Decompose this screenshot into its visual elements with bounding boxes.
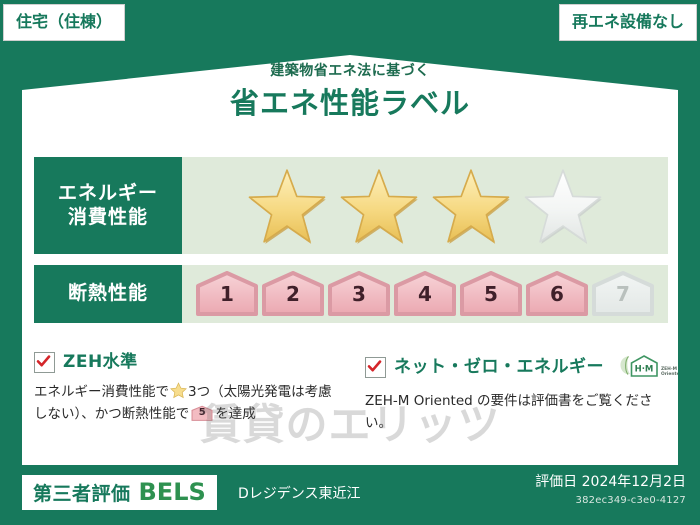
- zeh-m-logo: H·M ZEH-M Oriented: [616, 352, 678, 382]
- zeh-m-mark-text: H·M: [635, 365, 654, 375]
- insulation-performance-label-line1: 断熱性能: [68, 282, 148, 306]
- star-filled-icon: [337, 166, 421, 246]
- note-zeh-body: エネルギー消費性能で3つ（太陽光発電は考慮しない）、かつ断熱性能で5を達成: [34, 382, 339, 425]
- footer-bar: 第三者評価 BELS Dレジデンス東近江 評価日 2024年12月2日 382e…: [0, 465, 700, 525]
- note-zeh-body-before: エネルギー消費性能で: [34, 384, 169, 400]
- label-title: 省エネ性能ラベル: [0, 89, 700, 118]
- insulation-level-number: 2: [261, 284, 325, 304]
- insulation-level-number: 3: [327, 284, 391, 304]
- note-netzero-title: ネット・ゼロ・エネルギー: [394, 359, 604, 376]
- insulation-level-chip: 1: [195, 271, 259, 317]
- notes-section: ZEH水準 エネルギー消費性能で3つ（太陽光発電は考慮しない）、かつ断熱性能で5…: [34, 352, 668, 434]
- note-netzero: ネット・ゼロ・エネルギー H·M ZEH-M Oriented ZEH-M Or…: [351, 352, 668, 434]
- insulation-performance-label: 断熱性能: [34, 265, 182, 323]
- insulation-chip-inline: 5: [191, 405, 213, 422]
- checkbox-netzero[interactable]: [365, 357, 386, 378]
- star-icon-inline: [170, 382, 187, 399]
- note-zeh-title: ZEH水準: [63, 354, 138, 371]
- insulation-level-number: 1: [195, 284, 259, 304]
- note-netzero-body: ZEH-M Oriented の要件は評価書をご覧ください。: [365, 391, 656, 434]
- insulation-level-chip: 3: [327, 271, 391, 317]
- insulation-level-chip: 2: [261, 271, 325, 317]
- zeh-m-caption-line2: Oriented: [661, 371, 678, 377]
- evaluation-date: 評価日 2024年12月2日: [535, 475, 686, 489]
- checkbox-zeh[interactable]: [34, 352, 55, 373]
- energy-performance-label-line1: エネルギー: [58, 182, 158, 206]
- note-zeh-header: ZEH水準: [34, 352, 339, 373]
- insulation-level-chip: 5: [459, 271, 523, 317]
- insulation-level-number: 5: [459, 284, 523, 304]
- zeh-m-house-icon: H·M ZEH-M Oriented: [616, 352, 678, 382]
- note-zeh: ZEH水準 エネルギー消費性能で3つ（太陽光発電は考慮しない）、かつ断熱性能で5…: [34, 352, 351, 434]
- note-netzero-header: ネット・ゼロ・エネルギー H·M ZEH-M Oriented: [365, 352, 656, 382]
- tag-renewable-equipment: 再エネ設備なし: [559, 4, 697, 41]
- insulation-level-chip: 4: [393, 271, 457, 317]
- energy-performance-label-line2: 消費性能: [68, 206, 148, 230]
- star-filled-icon: [429, 166, 513, 246]
- insulation-level-number: 7: [591, 284, 655, 304]
- tag-renewable-equipment-label: 再エネ設備なし: [572, 12, 684, 31]
- star-empty-icon: [521, 166, 605, 246]
- star-filled-icon: [245, 166, 329, 246]
- insulation-level-chip: 6: [525, 271, 589, 317]
- label-subtitle: 建築物省エネ法に基づく: [0, 64, 700, 78]
- tag-building-type: 住宅（住棟）: [3, 4, 125, 41]
- insulation-level-number: 4: [393, 284, 457, 304]
- insulation-level-number: 6: [525, 284, 589, 304]
- energy-performance-label: 住宅（住棟） 再エネ設備なし 建築物省エネ法に基づく 省エネ性能ラベル エネルギ…: [0, 0, 700, 525]
- check-icon: [367, 359, 382, 374]
- bels-mark: BELS: [139, 480, 206, 504]
- insulation-level-scale: 1234567: [195, 271, 655, 317]
- note-zeh-body-end: を達成: [215, 406, 256, 422]
- energy-performance-value: [182, 157, 668, 254]
- insulation-level-chip: 7: [591, 271, 655, 317]
- insulation-performance-value: 1234567: [182, 265, 668, 323]
- evaluation-id: 382ec349-c3e0-4127: [576, 496, 686, 506]
- bels-plate: 第三者評価 BELS: [22, 475, 217, 510]
- energy-performance-row: エネルギー 消費性能: [34, 157, 668, 254]
- insulation-performance-row: 断熱性能 1234567: [34, 265, 668, 323]
- check-icon: [36, 354, 51, 369]
- star-rating: [245, 166, 605, 246]
- building-name: Dレジデンス東近江: [238, 487, 361, 501]
- energy-performance-label: エネルギー 消費性能: [34, 157, 182, 254]
- tag-building-type-label: 住宅（住棟）: [16, 12, 112, 31]
- insulation-chip-inline-number: 5: [191, 408, 213, 418]
- bels-evaluation-label: 第三者評価: [33, 485, 131, 504]
- label-title-block: 建築物省エネ法に基づく 省エネ性能ラベル: [0, 64, 700, 118]
